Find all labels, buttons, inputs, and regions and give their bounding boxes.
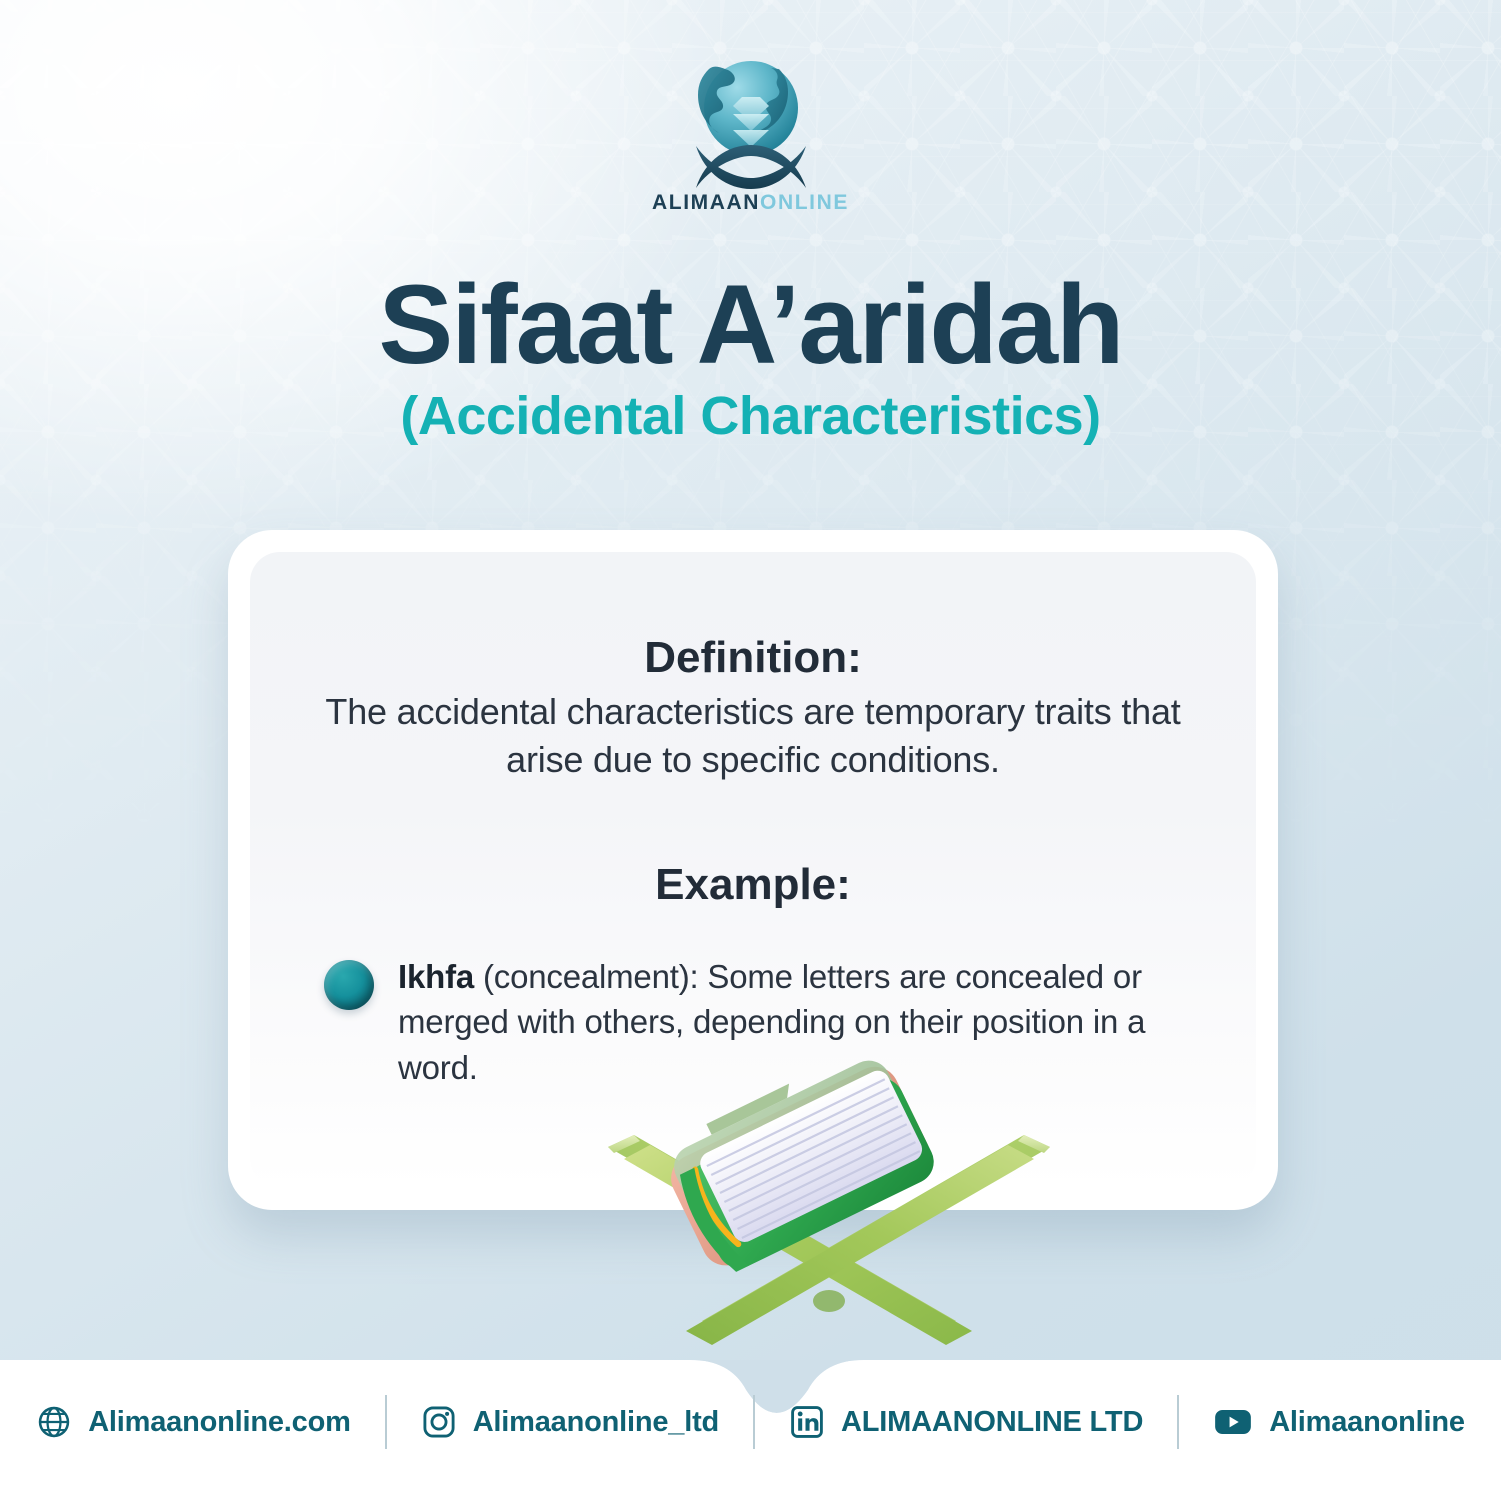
logo-wordmark-primary: ALIMAAN xyxy=(652,191,760,214)
teal-sphere-bullet-icon xyxy=(324,960,374,1010)
example-heading: Example: xyxy=(306,861,1200,909)
page-subtitle: (Accidental Characteristics) xyxy=(0,388,1501,445)
example-term: Ikhfa xyxy=(398,958,474,995)
rehal-quran-stand-with-book-illustration xyxy=(600,1055,1060,1385)
footer-bar: Alimaanonline.com Alimaanonline_ltd xyxy=(0,1361,1501,1501)
linkedin-icon xyxy=(789,1404,825,1440)
headline-block: Sifaat A’aridah (Accidental Characterist… xyxy=(0,268,1501,445)
logo-wordmark-secondary: ONLINE xyxy=(760,191,849,214)
footer-label-instagram: Alimaanonline_ltd xyxy=(473,1406,719,1439)
definition-text: The accidental characteristics are tempo… xyxy=(306,688,1200,783)
poster-canvas: ALIMAANONLINE Sifaat A’aridah (Accidenta… xyxy=(0,0,1501,1501)
footer-label-linkedin: ALIMAANONLINE LTD xyxy=(841,1406,1143,1439)
globe-quran-logo-icon xyxy=(676,48,826,198)
footer-links: Alimaanonline.com Alimaanonline_ltd xyxy=(0,1395,1501,1449)
footer-label-website: Alimaanonline.com xyxy=(88,1406,351,1439)
footer-item-youtube[interactable]: Alimaanonline xyxy=(1179,1404,1499,1440)
definition-heading: Definition: xyxy=(306,634,1200,682)
instagram-icon xyxy=(421,1404,457,1440)
youtube-icon xyxy=(1213,1404,1253,1440)
logo-wordmark: ALIMAANONLINE xyxy=(652,192,849,213)
footer-label-youtube: Alimaanonline xyxy=(1269,1406,1465,1439)
footer-item-instagram[interactable]: Alimaanonline_ltd xyxy=(387,1404,753,1440)
page-title: Sifaat A’aridah xyxy=(0,268,1501,382)
globe-icon xyxy=(36,1404,72,1440)
brand-logo: ALIMAANONLINE xyxy=(0,48,1501,213)
footer-item-linkedin[interactable]: ALIMAANONLINE LTD xyxy=(755,1404,1177,1440)
footer-item-website[interactable]: Alimaanonline.com xyxy=(2,1404,385,1440)
